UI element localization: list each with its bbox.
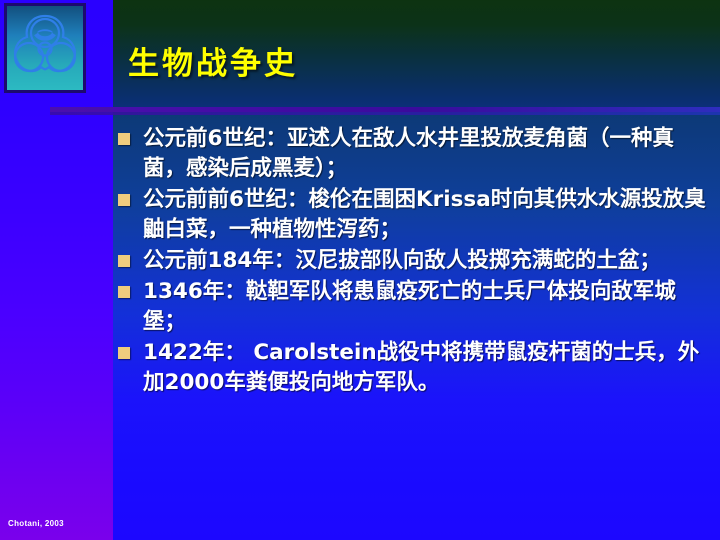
list-item[interactable]: 1422年： Carolstein战役中将携带鼠疫杆菌的士兵，外加2000车粪便…: [118, 338, 714, 398]
slide-title: 生物战争史: [128, 38, 298, 83]
divider-line-lower: [50, 112, 720, 115]
title-divider-rule: [50, 107, 720, 115]
square-bullet-icon: [118, 347, 130, 359]
bullet-list: 公元前6世纪：亚述人在敌人水井里投放麦角菌（一种真菌，感染后成黑麦）； 公元前前…: [118, 124, 714, 399]
square-bullet-icon: [118, 286, 130, 298]
list-item[interactable]: 公元前6世纪：亚述人在敌人水井里投放麦角菌（一种真菌，感染后成黑麦）；: [118, 124, 714, 184]
presentation-slide: 生物战争史 公元前6世纪：亚述人在敌人水井里投放麦角菌（一种真菌，感染后成黑麦）…: [0, 0, 720, 540]
list-item-text: 公元前6世纪：亚述人在敌人水井里投放麦角菌（一种真菌，感染后成黑麦）；: [143, 124, 714, 184]
list-item[interactable]: 公元前184年：汉尼拔部队向敌人投掷充满蛇的土盆；: [118, 246, 714, 276]
square-bullet-icon: [118, 255, 130, 267]
biohazard-logo-box: [4, 3, 86, 93]
square-bullet-icon: [118, 194, 130, 206]
list-item-text: 公元前184年：汉尼拔部队向敌人投掷充满蛇的土盆；: [143, 246, 714, 276]
list-item-text: 公元前前6世纪：梭伦在围困Krissa时向其供水水源投放臭鼬白菜，一种植物性泻药…: [143, 185, 714, 245]
list-item[interactable]: 1346年：鞑靼军队将患鼠疫死亡的士兵尸体投向敌军城堡；: [118, 277, 714, 337]
biohazard-icon: [7, 6, 83, 90]
list-item-text: 1422年： Carolstein战役中将携带鼠疫杆菌的士兵，外加2000车粪便…: [143, 338, 714, 398]
list-item[interactable]: 公元前前6世纪：梭伦在围困Krissa时向其供水水源投放臭鼬白菜，一种植物性泻药…: [118, 185, 714, 245]
author-credit: Chotani, 2003: [8, 519, 64, 528]
list-item-text: 1346年：鞑靼军队将患鼠疫死亡的士兵尸体投向敌军城堡；: [143, 277, 714, 337]
square-bullet-icon: [118, 133, 130, 145]
